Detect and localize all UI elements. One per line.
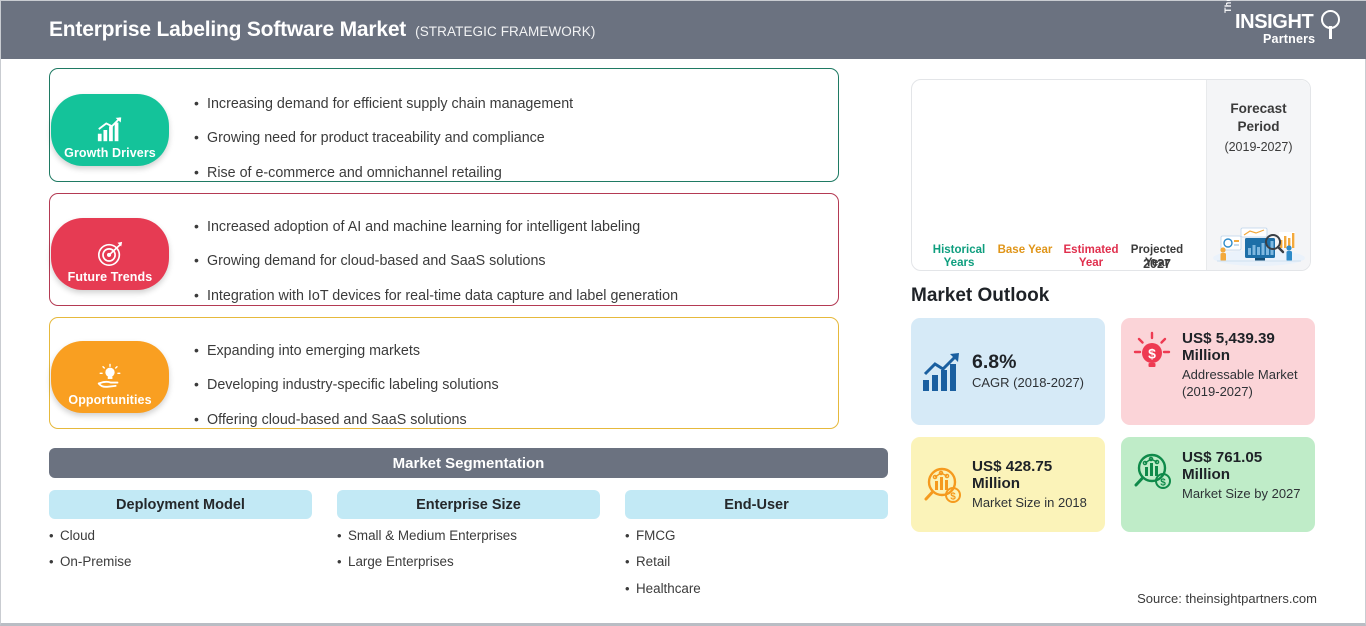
page-title: Enterprise Labeling Software Market [49, 18, 406, 42]
list-item: Cloud [49, 529, 312, 542]
list-item: Retail [625, 555, 888, 568]
logo-insight-text: INSIGHT [1235, 11, 1313, 34]
list-item: On-Premise [49, 555, 312, 568]
insight-partners-logo: The INSIGHT Partners [1223, 9, 1345, 51]
list-item: Increasing demand for efficient supply c… [194, 96, 573, 111]
card-label: CAGR (2018-2027) [972, 375, 1084, 392]
badge-label: Growth Drivers [64, 147, 156, 160]
list-item: FMCG [625, 529, 888, 542]
badge-label: Future Trends [68, 271, 153, 284]
source-attribution: Source: theinsightpartners.com [1137, 591, 1317, 606]
growth-drivers-badge[interactable]: Growth Drivers [51, 94, 169, 166]
magnifier-chart-dollar-icon: $ [921, 463, 963, 507]
segmentation-column-end-user: End-User FMCG Retail Healthcare [625, 490, 888, 608]
future-trends-badge[interactable]: Future Trends [51, 218, 169, 290]
forecast-period-panel: Forecast Period (2019-2027) [1206, 80, 1310, 271]
card-body: 6.8% CAGR (2018-2027) [972, 351, 1084, 392]
forecast-title: Forecast Period [1207, 100, 1310, 135]
svg-text:$: $ [950, 491, 956, 502]
column-items: Cloud On-Premise [49, 529, 312, 569]
forecast-range: (2019-2027) [1207, 140, 1310, 154]
list-item: Healthcare [625, 582, 888, 595]
timeline-caption: Estimated Year [1056, 244, 1126, 271]
lightbulb-dollar-icon: $ [1131, 330, 1173, 374]
page-header: Enterprise Labeling Software Market (STR… [1, 1, 1366, 59]
market-segmentation-title: Market Segmentation [393, 455, 545, 472]
card-value: 6.8% [972, 351, 1084, 373]
column-header: Deployment Model [49, 490, 312, 519]
market-outlook-title: Market Outlook [911, 285, 1321, 307]
card-label: Addressable Market (2019-2027) [1182, 367, 1305, 400]
business-analytics-illustration [1211, 210, 1307, 266]
list-item: Growing need for product traceability an… [194, 130, 573, 145]
timeline-caption: Base Year [990, 244, 1060, 271]
infographic-page: Enterprise Labeling Software Market (STR… [0, 0, 1366, 626]
column-title: End-User [724, 497, 788, 513]
future-trends-bullets: Increased adoption of AI and machine lea… [194, 219, 678, 322]
bar-chart-arrow-icon [921, 350, 963, 394]
column-title: Deployment Model [116, 497, 245, 513]
right-content-column: 2016-2017 Historical Years [911, 79, 1321, 532]
card-body: US$ 761.05 Million Market Size by 2027 [1182, 449, 1305, 503]
list-item: Offering cloud-based and SaaS solutions [194, 412, 499, 427]
column-items: Small & Medium Enterprises Large Enterpr… [337, 529, 600, 569]
logo-partners-text: Partners [1263, 32, 1315, 46]
opportunities-bullets: Expanding into emerging markets Developi… [194, 343, 499, 446]
list-item: Expanding into emerging markets [194, 343, 499, 358]
outlook-card-cagr: 6.8% CAGR (2018-2027) [911, 318, 1105, 425]
column-header: End-User [625, 490, 888, 519]
lightbulb-hand-icon [95, 363, 125, 391]
timeline-caption: Projected Year [1122, 244, 1192, 271]
list-item: Developing industry-specific labeling so… [194, 377, 499, 392]
card-body: US$ 428.75 Million Market Size in 2018 [972, 458, 1095, 512]
magnifier-chart-dollar-icon: $ [1131, 449, 1173, 493]
market-outlook-cards: 6.8% CAGR (2018-2027) $ US$ 5,439.39 Mil… [911, 318, 1321, 532]
card-value: US$ 5,439.39 Million [1182, 330, 1305, 365]
bar-chart-growth-icon [95, 116, 125, 144]
segmentation-column-enterprise-size: Enterprise Size Small & Medium Enterpris… [337, 490, 600, 608]
logo-the-text: The [1223, 0, 1233, 13]
card-label: Market Size by 2027 [1182, 486, 1305, 503]
magnifier-handle-icon [1329, 26, 1331, 39]
svg-text:$: $ [1160, 478, 1166, 489]
column-items: FMCG Retail Healthcare [625, 529, 888, 595]
target-dartboard-icon [95, 240, 125, 268]
card-value: US$ 428.75 Million [972, 458, 1095, 493]
list-item: Growing demand for cloud-based and SaaS … [194, 253, 678, 268]
card-body: US$ 5,439.39 Million Addressable Market … [1182, 330, 1305, 400]
forecast-title-line1: Forecast [1230, 101, 1286, 116]
growth-drivers-bullets: Increasing demand for efficient supply c… [194, 96, 573, 199]
outlook-card-addressable-market: $ US$ 5,439.39 Million Addressable Marke… [1121, 318, 1315, 425]
outlook-card-market-size-2018: $ US$ 428.75 Million Market Size in 2018 [911, 437, 1105, 532]
list-item: Integration with IoT devices for real-ti… [194, 288, 678, 303]
list-item: Large Enterprises [337, 555, 600, 568]
segmentation-column-deployment-model: Deployment Model Cloud On-Premise [49, 490, 312, 608]
market-segmentation-header: Market Segmentation [49, 448, 888, 478]
timeline-caption: Historical Years [924, 244, 994, 271]
card-value: US$ 761.05 Million [1182, 449, 1305, 484]
timeline-bars: 2016-2017 Historical Years [930, 80, 1190, 271]
forecast-title-line2: Period [1237, 119, 1279, 134]
opportunities-badge[interactable]: Opportunities [51, 341, 169, 413]
column-title: Enterprise Size [416, 497, 521, 513]
card-label: Market Size in 2018 [972, 495, 1095, 512]
list-item: Rise of e-commerce and omnichannel retai… [194, 165, 573, 180]
column-header: Enterprise Size [337, 490, 600, 519]
list-item: Increased adoption of AI and machine lea… [194, 219, 678, 234]
list-item: Small & Medium Enterprises [337, 529, 600, 542]
outlook-card-market-size-2027: $ US$ 761.05 Million Market Size by 2027 [1121, 437, 1315, 532]
badge-label: Opportunities [68, 394, 151, 407]
segmentation-columns: Deployment Model Cloud On-Premise Enterp… [49, 490, 888, 608]
market-timeline-chart: 2016-2017 Historical Years [911, 79, 1311, 271]
header-title-group: Enterprise Labeling Software Market (STR… [49, 18, 595, 42]
page-subtitle: (STRATEGIC FRAMEWORK) [415, 24, 595, 39]
svg-text:$: $ [1148, 346, 1156, 362]
